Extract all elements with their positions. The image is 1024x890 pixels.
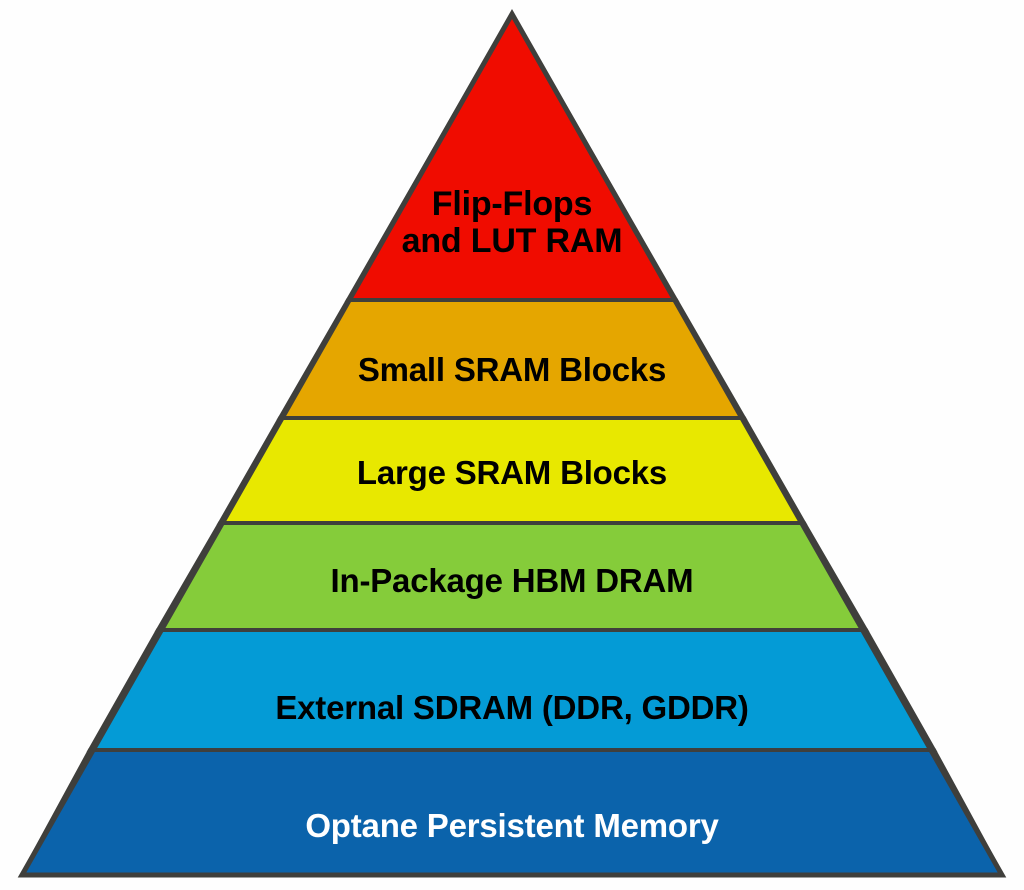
tier-label-optane-persistent-memory: Optane Persistent Memory: [0, 808, 1024, 844]
tier-label-flip-flops-and-lut-ram: Flip-Flops and LUT RAM: [0, 186, 1024, 259]
pyramid-shape-group: [0, 0, 1024, 890]
tier-label-in-package-hbm-dram: In-Package HBM DRAM: [0, 563, 1024, 599]
memory-hierarchy-pyramid-figure: Flip-Flops and LUT RAM Small SRAM Blocks…: [0, 0, 1024, 890]
tier-label-large-sram-blocks: Large SRAM Blocks: [0, 455, 1024, 491]
tier-label-small-sram-blocks: Small SRAM Blocks: [0, 352, 1024, 388]
tier-label-external-sdram: External SDRAM (DDR, GDDR): [0, 690, 1024, 726]
